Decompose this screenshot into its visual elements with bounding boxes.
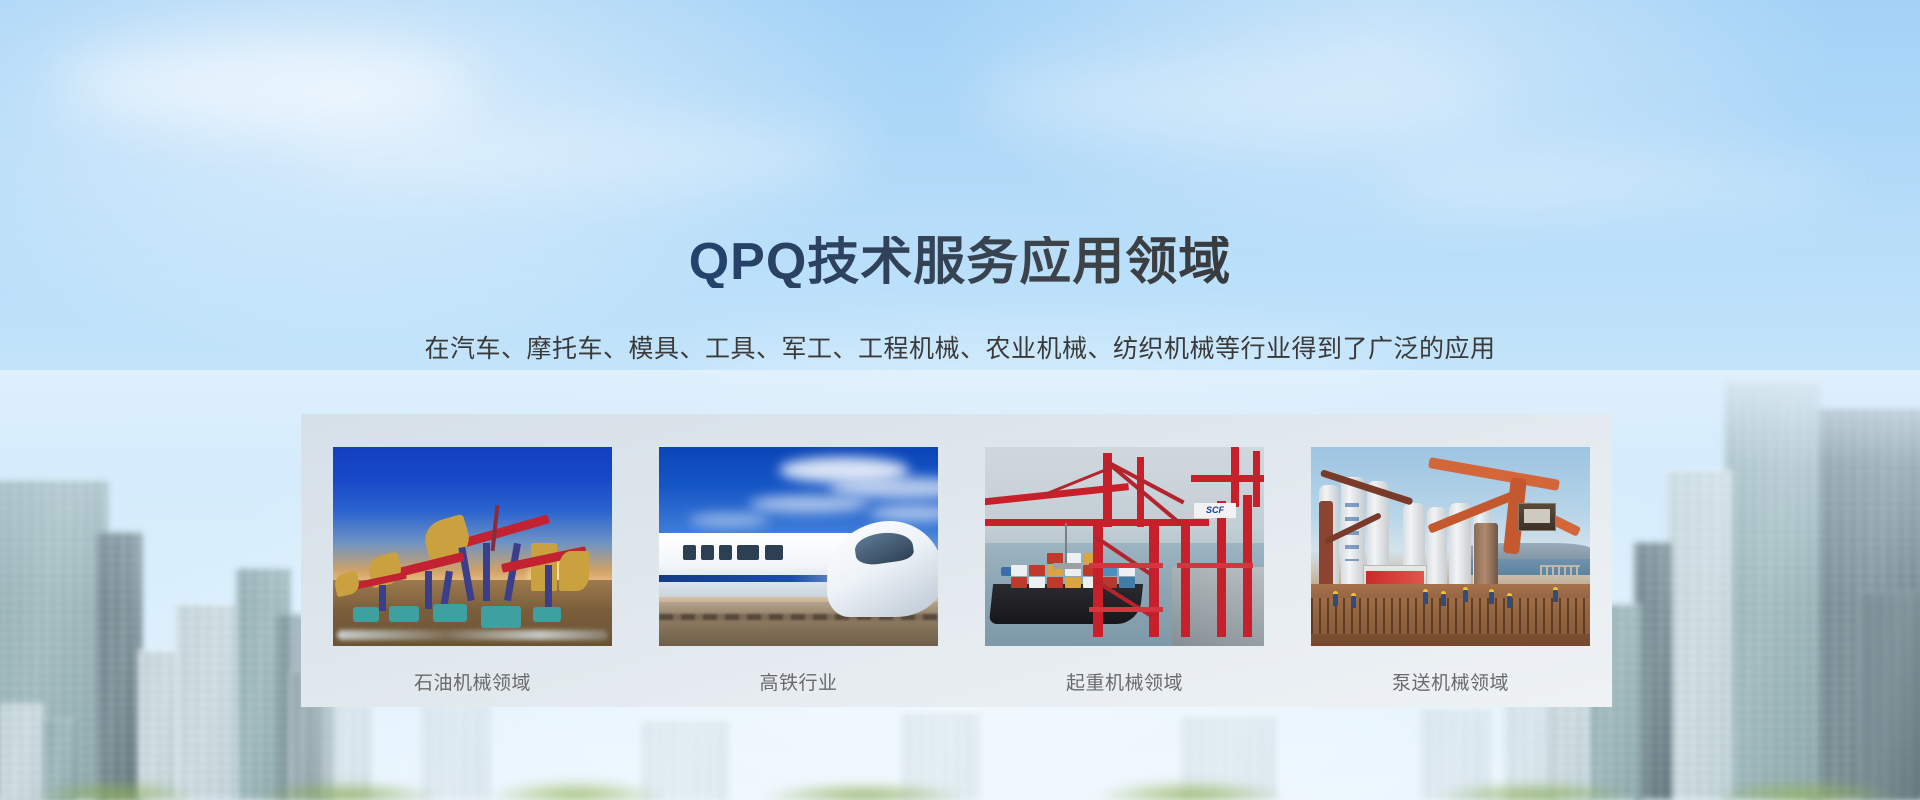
card-caption: 石油机械领域: [333, 668, 612, 695]
application-card-train[interactable]: 高铁行业: [659, 447, 938, 695]
application-cards: 石油机械领域: [333, 447, 1590, 695]
page-subtitle: 在汽车、摩托车、模具、工具、军工、工程机械、农业机械、纺织机械等行业得到了广泛的…: [0, 329, 1920, 365]
application-card-pump[interactable]: 泵送机械领域: [1311, 447, 1590, 695]
container-brand-label: SCF: [1194, 503, 1236, 518]
port-gantry-crane-photo: SCF: [985, 447, 1264, 646]
high-speed-train-photo: [659, 447, 938, 646]
page-title: QPQ技术服务应用领域: [0, 236, 1920, 288]
hero-content: QPQ技术服务应用领域 在汽车、摩托车、模具、工具、军工、工程机械、农业机械、纺…: [0, 0, 1920, 800]
card-caption: 泵送机械领域: [1311, 668, 1590, 695]
application-card-oil[interactable]: 石油机械领域: [333, 447, 612, 695]
card-caption: 起重机械领域: [985, 668, 1264, 695]
application-card-crane[interactable]: SCF 起重机械领域: [985, 447, 1264, 695]
oil-pumpjack-photo: [333, 447, 612, 646]
application-fields-panel: 石油机械领域: [301, 414, 1612, 707]
concrete-pump-photo: [1311, 447, 1590, 646]
card-caption: 高铁行业: [659, 668, 938, 695]
